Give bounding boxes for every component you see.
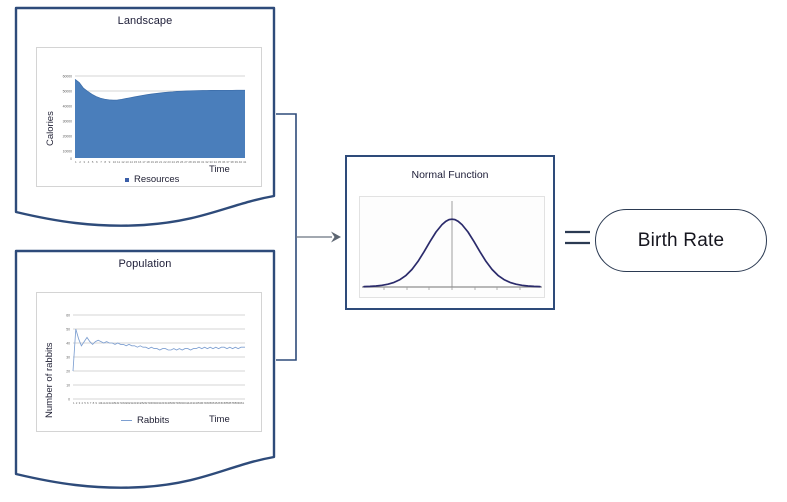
svg-text:10: 10	[66, 383, 70, 387]
svg-text:28: 28	[188, 160, 192, 164]
population-legend[interactable]: Rabbits	[121, 415, 169, 426]
svg-text:30000: 30000	[63, 120, 73, 124]
landscape-chart[interactable]: 60000 50000 40000 30000 20000 10000 0 12…	[36, 47, 262, 187]
svg-text:19: 19	[151, 160, 155, 164]
svg-text:22: 22	[163, 160, 167, 164]
svg-text:50: 50	[66, 327, 70, 331]
population-node[interactable]: Population 60 50 40 30 2	[14, 249, 276, 491]
line-marker-icon	[121, 420, 132, 421]
svg-text:11: 11	[117, 160, 120, 164]
svg-text:29: 29	[193, 160, 197, 164]
svg-text:39: 39	[235, 160, 239, 164]
svg-text:27: 27	[184, 160, 188, 164]
population-x-axis-label: Time	[209, 414, 230, 425]
svg-text:60000: 60000	[63, 75, 73, 79]
population-title: Population	[14, 258, 276, 270]
svg-text:38: 38	[230, 160, 234, 164]
svg-text:31: 31	[201, 160, 205, 164]
population-chart[interactable]: 60 50 40 30 20 10 0 123 456 789 101112 1…	[36, 292, 262, 432]
svg-text:18: 18	[146, 160, 150, 164]
landscape-x-axis-label: Time	[209, 164, 230, 175]
svg-text:41: 41	[243, 160, 247, 164]
arrow-right-icon	[296, 232, 341, 243]
svg-text:40: 40	[66, 341, 70, 345]
svg-text:23: 23	[167, 160, 171, 164]
svg-text:25: 25	[176, 160, 180, 164]
svg-text:20: 20	[155, 160, 159, 164]
landscape-legend[interactable]: Resources	[125, 174, 179, 185]
normal-function-title: Normal Function	[347, 169, 553, 181]
svg-text:20: 20	[66, 369, 70, 373]
equals-sign	[563, 225, 593, 251]
square-marker-icon	[125, 178, 129, 182]
svg-text:15: 15	[134, 160, 138, 164]
svg-text:12: 12	[121, 160, 125, 164]
population-legend-label: Rabbits	[137, 415, 169, 426]
svg-text:14: 14	[130, 160, 134, 164]
svg-text:50000: 50000	[63, 90, 73, 94]
svg-text:61: 61	[241, 401, 245, 405]
svg-text:60: 60	[66, 313, 70, 317]
svg-text:0: 0	[70, 157, 72, 161]
birth-rate-label: Birth Rate	[638, 230, 724, 252]
normal-function-node[interactable]: Normal Function	[345, 155, 555, 310]
diagram-canvas: Landscape 60000	[0, 0, 787, 502]
svg-text:40: 40	[239, 160, 243, 164]
svg-text:0: 0	[68, 397, 70, 401]
landscape-node[interactable]: Landscape 60000	[14, 6, 276, 228]
svg-text:10000: 10000	[63, 150, 73, 154]
svg-text:30: 30	[66, 355, 70, 359]
landscape-legend-label: Resources	[134, 174, 179, 185]
landscape-y-axis-label: Calories	[45, 111, 56, 146]
svg-text:21: 21	[159, 160, 163, 164]
svg-text:40000: 40000	[63, 105, 73, 109]
svg-text:13: 13	[125, 160, 129, 164]
normal-function-plot	[359, 196, 545, 298]
normal-function-svg	[360, 197, 544, 297]
population-y-axis-label: Number of rabbits	[44, 342, 55, 418]
svg-text:26: 26	[180, 160, 184, 164]
svg-text:16: 16	[138, 160, 142, 164]
svg-text:30: 30	[197, 160, 201, 164]
svg-text:20000: 20000	[63, 135, 73, 139]
landscape-title: Landscape	[14, 15, 276, 27]
birth-rate-node[interactable]: Birth Rate	[595, 209, 767, 272]
bracket-connector	[276, 114, 296, 360]
svg-text:10: 10	[113, 160, 117, 164]
svg-text:24: 24	[172, 160, 176, 164]
population-chart-svg: 60 50 40 30 20 10 0 123 456 789 101112 1…	[37, 293, 261, 431]
svg-text:17: 17	[142, 160, 146, 164]
